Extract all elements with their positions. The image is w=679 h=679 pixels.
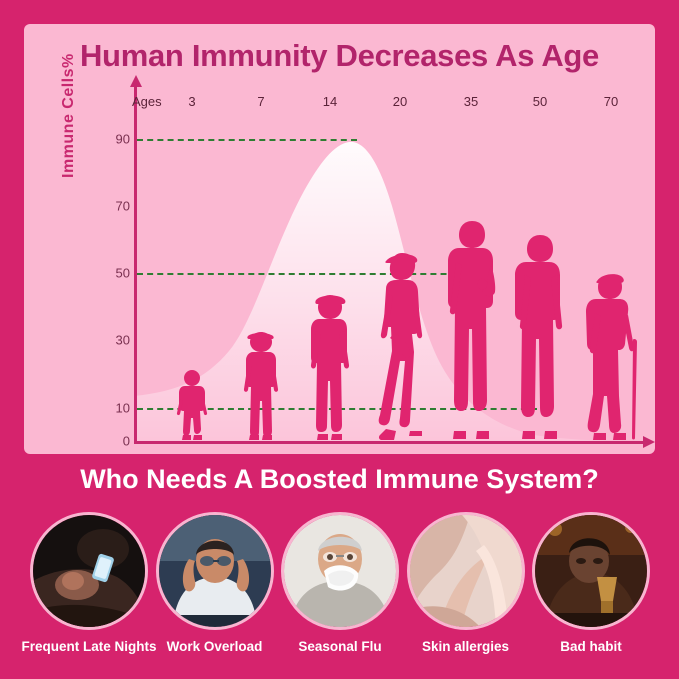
- y-axis-label: Immune Cells%: [60, 53, 78, 178]
- x-tick-35: 35: [464, 94, 478, 109]
- y-tick-50: 50: [108, 266, 130, 281]
- photo-cell-work-overload: Work Overload: [156, 512, 274, 667]
- silhouette-age-3: [172, 369, 214, 441]
- y-tick-30: 30: [108, 333, 130, 348]
- photo-caption: Seasonal Flu: [298, 639, 381, 654]
- photo-row: Frequent Late Nights Work Over: [30, 512, 650, 667]
- x-axis-arrow-icon: [643, 436, 655, 448]
- chart-plot-area: Immune Cells% 0 10 30 50 70 90: [134, 86, 644, 444]
- chart-panel: Human Immunity Decreases As Age: [24, 24, 655, 454]
- x-tick-70: 70: [604, 94, 618, 109]
- stressed-man-at-desk-holding-head-image: [156, 512, 274, 630]
- x-tick-20: 20: [393, 94, 407, 109]
- x-axis: [134, 441, 644, 444]
- infographic-root: Human Immunity Decreases As Age: [0, 0, 679, 679]
- x-tick-50: 50: [533, 94, 547, 109]
- photo-cell-bad-habit: Bad habit: [532, 512, 650, 667]
- photo-caption: Bad habit: [560, 639, 622, 654]
- y-axis-arrow-icon: [130, 75, 142, 87]
- older-man-blowing-nose-into-tissue-image: [281, 512, 399, 630]
- silhouette-age-14: [306, 293, 354, 441]
- x-tick-7: 7: [257, 94, 264, 109]
- silhouette-age-35: [444, 219, 500, 441]
- photo-caption: Work Overload: [167, 639, 263, 654]
- silhouette-age-50: [514, 233, 566, 441]
- bare-shoulder-and-neck-skin-image: [407, 512, 525, 630]
- y-tick-90: 90: [108, 132, 130, 147]
- silhouette-age-7: [239, 331, 283, 441]
- photo-caption: Skin allergies: [422, 639, 509, 654]
- x-tick-3: 3: [188, 94, 195, 109]
- x-tick-14: 14: [323, 94, 337, 109]
- photo-cell-skin-allergies: Skin allergies: [407, 512, 525, 667]
- x-axis-label: Ages: [132, 94, 162, 109]
- silhouette-age-20: [372, 251, 428, 441]
- silhouette-group: [134, 96, 644, 441]
- y-tick-70: 70: [108, 199, 130, 214]
- person-in-bed-with-phone-at-night-image: [30, 512, 148, 630]
- photo-caption: Frequent Late Nights: [22, 639, 157, 654]
- photo-cell-late-nights: Frequent Late Nights: [30, 512, 148, 667]
- silhouette-age-70: [584, 269, 642, 441]
- page-title: Human Immunity Decreases As Age: [24, 38, 655, 74]
- y-tick-0: 0: [108, 434, 130, 449]
- man-drinking-alcohol-at-bar-image: [532, 512, 650, 630]
- photo-cell-seasonal-flu: Seasonal Flu: [281, 512, 399, 667]
- section-subtitle: Who Needs A Boosted Immune System?: [0, 464, 679, 495]
- y-tick-10: 10: [108, 400, 130, 415]
